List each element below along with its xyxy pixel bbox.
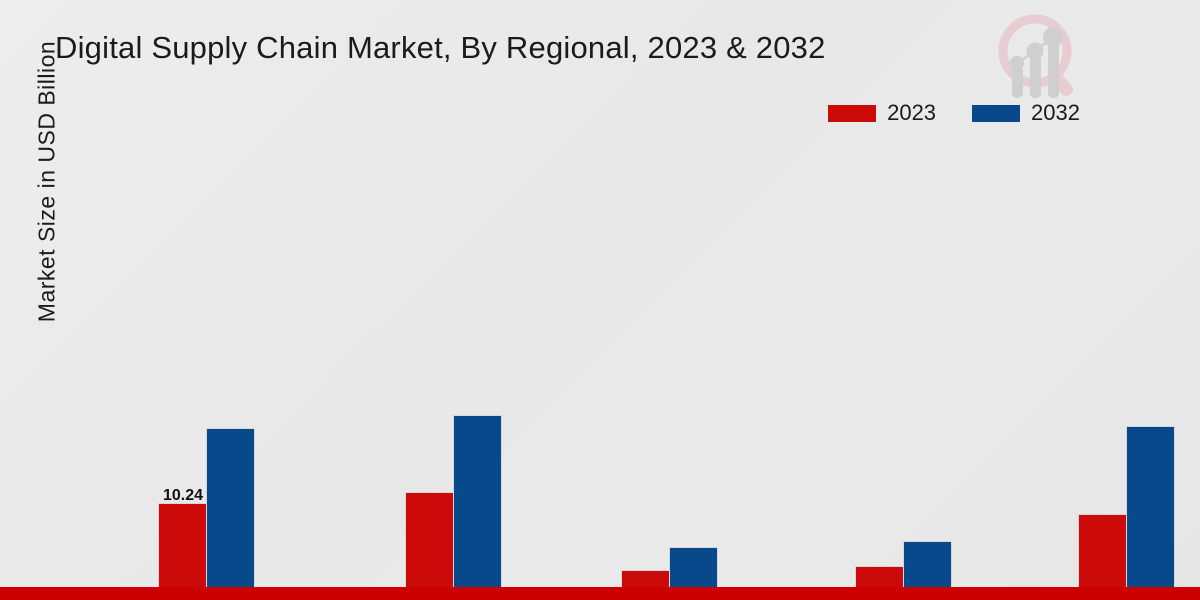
bar-2032[interactable] <box>453 415 502 592</box>
legend-label-2032: 2032 <box>1031 100 1080 126</box>
bar-2032[interactable] <box>669 547 718 592</box>
watermark-logo-icon <box>985 4 1095 104</box>
legend-label-2023: 2023 <box>887 100 936 126</box>
plot-area: NORTHAMERICAEUROPESOUTHAMERICAASIAPACIFI… <box>48 140 1200 452</box>
legend-item-2023[interactable]: 2023 <box>828 100 936 126</box>
bottom-accent-bar <box>0 587 1200 600</box>
legend-item-2032[interactable]: 2032 <box>972 100 1080 126</box>
bar-2032[interactable] <box>1126 426 1175 592</box>
legend-swatch-2023 <box>828 105 876 122</box>
bar-2032[interactable] <box>903 541 952 592</box>
chart-legend: 2023 2032 <box>828 100 1080 126</box>
bar-2032[interactable] <box>206 428 255 592</box>
chart-canvas: Digital Supply Chain Market, By Regional… <box>0 0 1200 600</box>
chart-title: Digital Supply Chain Market, By Regional… <box>55 30 826 66</box>
bar-value-label: 10.24 <box>163 487 203 505</box>
legend-swatch-2032 <box>972 105 1020 122</box>
